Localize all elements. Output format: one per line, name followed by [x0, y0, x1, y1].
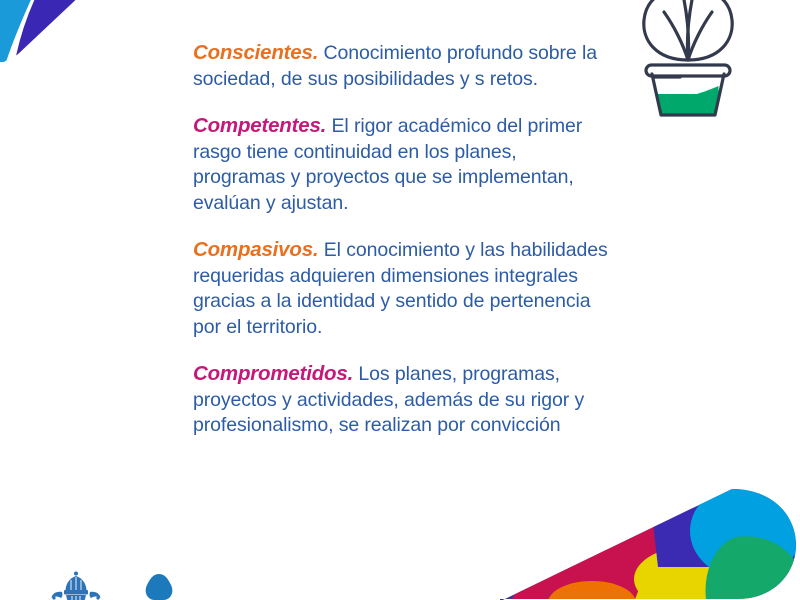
slide-canvas: Conscientes. Conocimiento profundo sobre… — [0, 0, 800, 600]
swoosh-segment-yellow-round — [634, 545, 758, 600]
paragraph-comprometidos: Comprometidos. Los planes, programas, pr… — [193, 361, 613, 439]
swoosh-base-indigo — [500, 475, 800, 600]
body-copy: Conscientes. Conocimiento profundo sobre… — [193, 40, 613, 439]
lead-compasivos: Compasivos. — [193, 238, 318, 261]
paragraph-conscientes: Conscientes. Conocimiento profundo sobre… — [193, 40, 613, 92]
swoosh-segment-violet — [652, 501, 740, 567]
paragraph-compasivos: Compasivos. El conocimiento y las habili… — [193, 237, 613, 340]
crest-scroll-left-dot — [52, 596, 55, 599]
corner-swoosh-bottom-right — [500, 475, 800, 600]
crest-band — [64, 590, 88, 595]
lead-competentes: Competentes. — [193, 114, 326, 137]
ribbon-segment-cyan — [0, 0, 50, 62]
swoosh-segment-blue — [690, 483, 800, 579]
swoosh-segment-yellow — [632, 561, 750, 600]
blob-shape — [146, 574, 173, 600]
institutional-crest-logo — [50, 570, 102, 600]
blue-blob-logo — [142, 572, 176, 600]
ribbon-segment-indigo — [12, 0, 118, 56]
swoosh-segment-crimson — [510, 549, 690, 600]
crest-scroll-right-dot — [96, 596, 99, 599]
swoosh-segment-orange — [548, 581, 636, 600]
ribbon-mask-white — [0, 0, 190, 110]
pot-rim — [646, 65, 730, 76]
swoosh-segment-green — [706, 536, 800, 600]
plant-pot-icon — [628, 0, 748, 127]
crest-finial — [74, 572, 78, 576]
swoosh-segment-crimson-round — [542, 519, 698, 600]
corner-ribbon-top-left — [0, 0, 190, 110]
leaf-right — [687, 0, 732, 60]
paragraph-competentes: Competentes. El rigor académico del prim… — [193, 113, 613, 216]
leaf-vein-left — [664, 12, 688, 60]
lead-conscientes: Conscientes. — [193, 41, 318, 64]
leaf-left — [644, 0, 689, 60]
lead-comprometidos: Comprometidos. — [193, 362, 353, 385]
leaf-vein-right — [688, 12, 712, 60]
